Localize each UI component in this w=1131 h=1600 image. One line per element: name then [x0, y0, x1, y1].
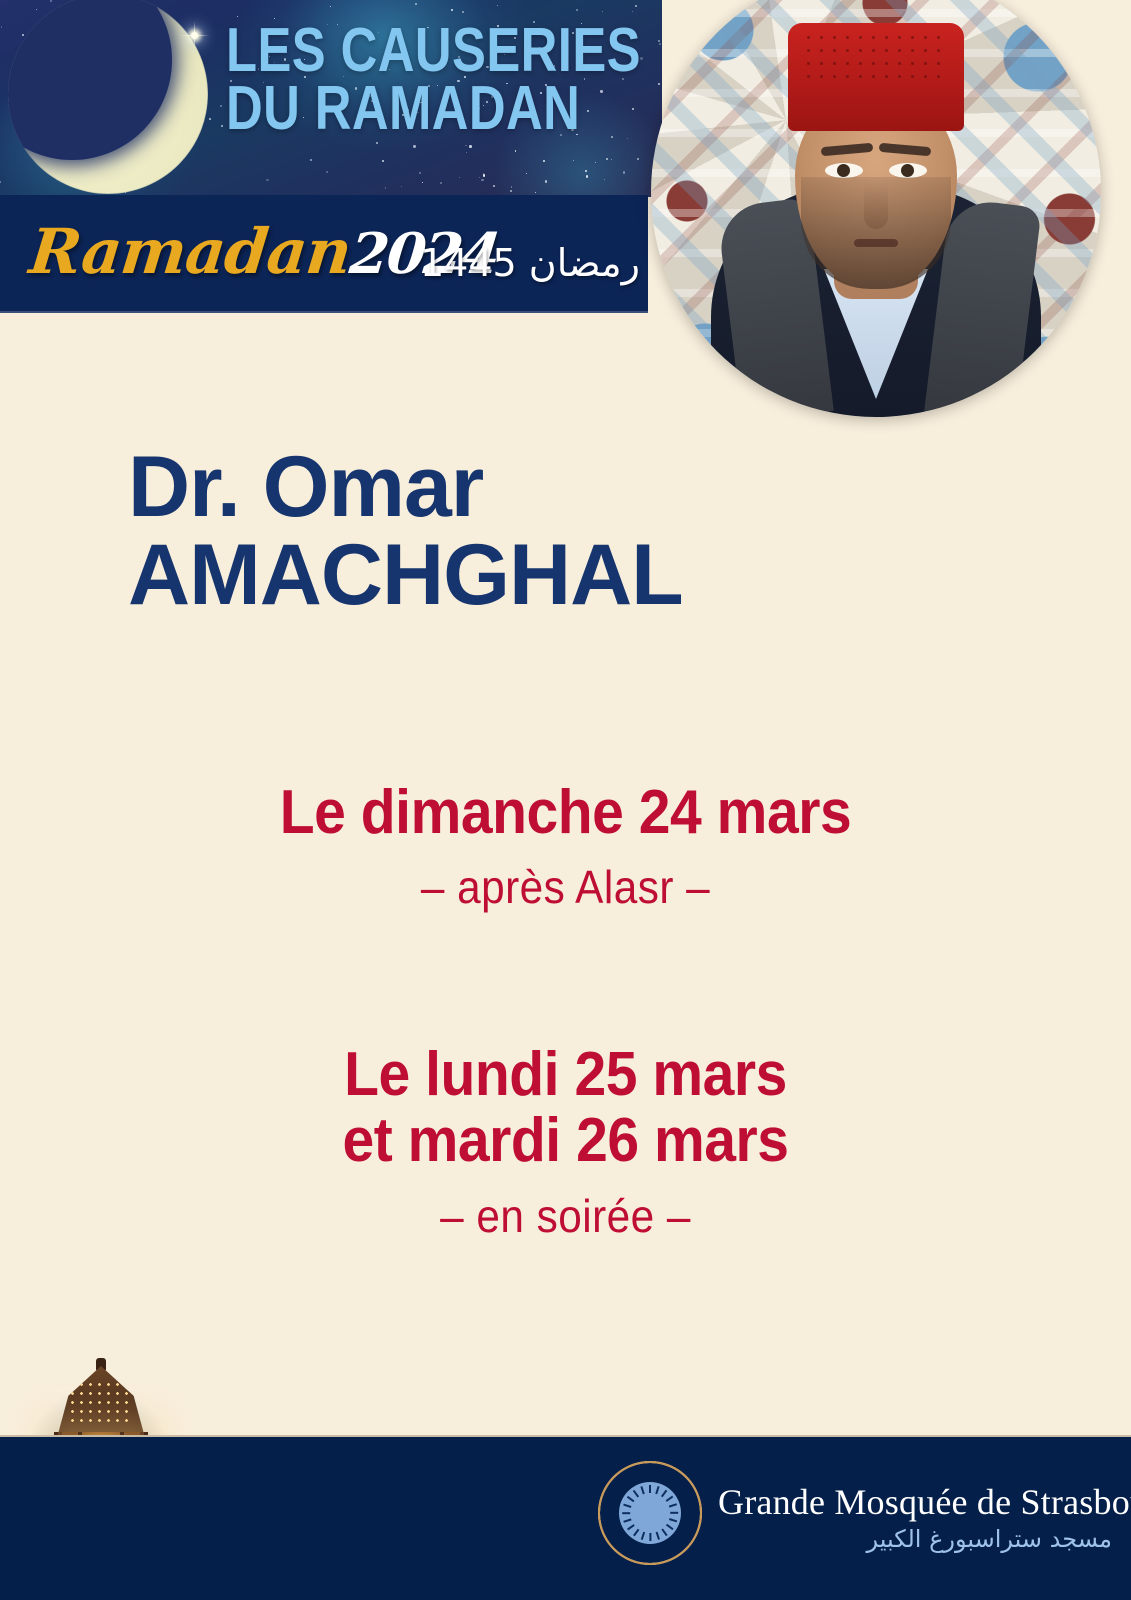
hijri-year-arabic: رمضان 1445 — [420, 241, 640, 285]
date-second-sub: – en soirée – — [45, 1189, 1086, 1243]
date-block-first: Le dimanche 24 mars – après Alasr – — [0, 780, 1131, 914]
header-night-sky-banner: LES CAUSERIES DU RAMADAN — [0, 0, 662, 197]
date-first-sub: – après Alasr – — [45, 860, 1086, 914]
logo-tick — [665, 1496, 673, 1503]
speaker-name-line-1: Dr. Omar — [128, 439, 483, 535]
logo-tick — [627, 1496, 635, 1503]
organization-name-fr: Grande Mosquée de Strasbourg — [718, 1481, 1131, 1523]
star-icon — [191, 32, 198, 39]
organization-name-ar: مسجد ستراسبورغ الكبير — [718, 1525, 1112, 1553]
poster-title: LES CAUSERIES DU RAMADAN — [226, 22, 579, 137]
logo-tick — [633, 1528, 640, 1536]
logo-tick — [633, 1490, 640, 1498]
logo-tick — [661, 1528, 668, 1536]
red-fez-hat — [788, 23, 964, 131]
ramadan-word-text: Ramadan — [26, 215, 354, 288]
speaker-figure — [651, 87, 1101, 417]
logo-tick — [623, 1503, 631, 1508]
logo-tick — [655, 1486, 660, 1494]
logo-tick — [640, 1532, 645, 1540]
crescent-moon-icon — [8, 0, 208, 194]
logo-tick — [655, 1532, 660, 1540]
speaker-name-line-2: AMACHGHAL — [128, 532, 828, 620]
date-second-main-line-2: et mardi 26 mars — [45, 1108, 1086, 1174]
mosque-rosette-logo-icon — [594, 1457, 706, 1569]
logo-tick — [627, 1524, 635, 1531]
logo-tick — [622, 1512, 630, 1514]
logo-tick — [669, 1518, 677, 1523]
speaker-name: Dr. Omar AMACHGHAL — [128, 444, 828, 619]
date-first-main: Le dimanche 24 mars — [45, 780, 1086, 846]
logo-tick — [649, 1533, 651, 1541]
ramadan-conference-poster: LES CAUSERIES DU RAMADAN Ramadan2024 رمض… — [0, 0, 1131, 1600]
speaker-portrait-photo — [651, 0, 1101, 417]
logo-inner-disc — [619, 1482, 681, 1544]
logo-tick — [649, 1485, 651, 1493]
logo-tick — [670, 1512, 678, 1514]
ramadan-year-band: Ramadan2024 رمضان 1445 — [0, 195, 648, 313]
date-second-main-line-1: Le lundi 25 mars — [45, 1042, 1086, 1108]
logo-tick — [669, 1503, 677, 1508]
logo-tick — [623, 1518, 631, 1523]
logo-tick — [661, 1490, 668, 1498]
logo-tick — [665, 1524, 673, 1531]
footer-bar: Grande Mosquée de Strasbourg مسجد ستراسب… — [0, 1435, 1131, 1600]
title-line-2: DU RAMADAN — [226, 80, 579, 138]
date-block-second: Le lundi 25 mars et mardi 26 mars – en s… — [0, 1042, 1131, 1243]
logo-tick — [640, 1486, 645, 1494]
